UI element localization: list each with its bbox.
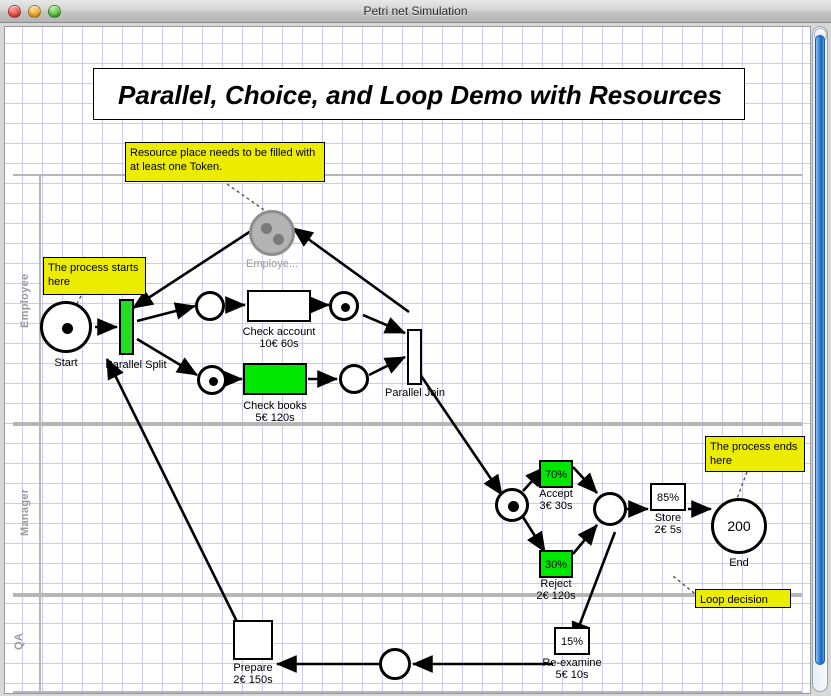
token [341,303,350,312]
transition-store-cost: 2€ 5s [628,524,708,536]
transition-check-books-label: Check books [229,400,321,412]
transition-reject-pct: 30% [541,559,571,571]
token [62,323,73,334]
place-merge[interactable] [593,492,627,526]
window-title: Petri net Simulation [0,0,831,22]
place-end-count: 200 [714,518,764,534]
transition-parallel-split[interactable] [119,299,134,355]
place-employee-resource[interactable] [249,210,295,256]
transition-store-pct: 85% [652,492,684,504]
place-employee-resource-label: Employe... [232,258,312,270]
diagram-canvas[interactable]: Employee Manager QA [4,26,811,694]
transition-re-examine-cost: 5€ 10s [529,669,615,681]
token [261,223,272,234]
token [273,234,284,245]
transition-store[interactable]: 85% [650,483,686,511]
app-window: Petri net Simulation Employee Manager QA [0,0,831,696]
transition-accept-cost: 3€ 30s [516,500,596,512]
transition-check-books-cost: 5€ 120s [229,412,321,424]
place-check-books-in[interactable] [197,365,227,395]
transition-store-label: Store [628,512,708,524]
token [209,377,218,386]
diagram-title-box: Parallel, Choice, and Loop Demo with Res… [93,68,745,120]
transition-prepare-label: Prepare [213,662,293,674]
transition-check-account-label: Check account [233,326,325,338]
diagram-title: Parallel, Choice, and Loop Demo with Res… [94,69,746,121]
transition-prepare[interactable] [233,620,273,660]
transition-check-account[interactable] [247,290,311,322]
transition-parallel-join-label: Parallel Join [370,387,460,399]
transition-parallel-join[interactable] [407,329,422,385]
transition-reject-label: Reject [516,578,596,590]
place-start[interactable] [40,301,92,353]
place-loop[interactable] [379,648,411,680]
place-check-account-in[interactable] [195,291,225,321]
vertical-scrollbar-thumb[interactable] [815,35,825,665]
note-end[interactable]: The process ends here [705,436,805,472]
swimlane-employee-label: Employee [19,268,31,328]
transition-parallel-split-label: Parallel Split [91,359,181,371]
note-loop[interactable]: Loop decision [695,589,791,608]
window-titlebar: Petri net Simulation [0,0,831,23]
transition-re-examine[interactable]: 15% [554,627,590,655]
note-resource[interactable]: Resource place needs to be filled with a… [125,142,325,182]
transition-reject-cost: 2€ 120s [516,590,596,602]
swimlane-qa [13,595,802,693]
transition-check-books[interactable] [243,363,307,395]
transition-accept-label: Accept [516,488,596,500]
note-start[interactable]: The process starts here [43,257,146,295]
place-end-label: End [704,557,774,569]
transition-re-examine-pct: 15% [556,636,588,648]
vertical-scrollbar[interactable] [812,26,828,692]
transition-prepare-cost: 2€ 150s [213,674,293,686]
transition-accept[interactable]: 70% [539,460,573,488]
swimlane-qa-label: QA [13,626,25,650]
swimlane-manager-label: Manager [19,480,31,536]
transition-re-examine-label: Re-examine [529,657,615,669]
place-check-books-out[interactable] [339,364,369,394]
transition-accept-pct: 70% [541,469,571,481]
place-end[interactable]: 200 [711,498,767,554]
place-check-account-out[interactable] [329,291,359,321]
transition-reject[interactable]: 30% [539,550,573,578]
transition-check-account-cost: 10€ 60s [233,338,325,350]
